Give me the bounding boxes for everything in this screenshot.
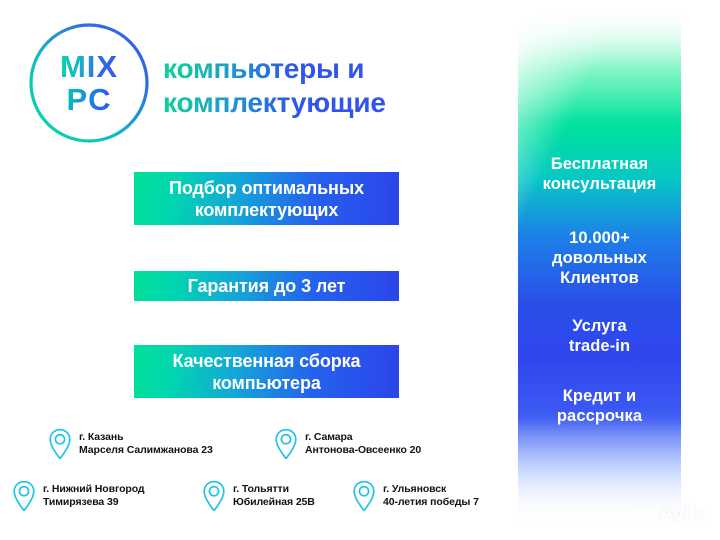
feature-box-assembly: Качественная сборка компьютера <box>134 345 399 398</box>
location-address: 40-летия победы 7 <box>383 496 479 508</box>
brand-logo: MIX PC <box>27 21 151 145</box>
logo-text-mix: MIX <box>60 52 118 81</box>
location-text: г. Нижний НовгородТимирязева 39 <box>43 483 144 510</box>
location-address: Марселя Салимжанова 23 <box>79 444 213 456</box>
promo-panel: Бесплатная консультация 10.000+ довольны… <box>518 0 681 540</box>
location-address: Юбилейная 25В <box>233 496 315 508</box>
location-text: г. СамараАнтонова-Овсеенко 20 <box>305 431 421 458</box>
promo-item-clients: 10.000+ довольных Клиентов <box>518 228 681 288</box>
map-pin-icon <box>12 480 36 512</box>
page-title: компьютеры и комплектующие <box>163 52 513 120</box>
location-text: г. ТольяттиЮбилейная 25В <box>233 483 315 510</box>
promo-item-trade-in: Услуга trade-in <box>518 316 681 356</box>
map-pin-icon <box>274 428 298 460</box>
location-text: г. Ульяновск40-летия победы 7 <box>383 483 479 510</box>
map-pin-icon <box>202 480 226 512</box>
map-pin-icon <box>48 428 72 460</box>
location-city: г. Нижний Новгород <box>43 483 144 495</box>
location-city: г. Ульяновск <box>383 483 446 495</box>
location-item-nizhny-novgorod: г. Нижний НовгородТимирязева 39 <box>12 480 144 512</box>
location-address: Тимирязева 39 <box>43 496 118 508</box>
feature-box-components: Подбор оптимальных комплектующих <box>134 172 399 225</box>
logo-lettering: MIX PC <box>27 21 151 145</box>
location-text: г. КазаньМарселя Салимжанова 23 <box>79 431 213 458</box>
avito-watermark: Avito <box>637 502 708 526</box>
promo-item-credit: Кредит и рассрочка <box>518 386 681 426</box>
location-item-samara: г. СамараАнтонова-Овсеенко 20 <box>274 428 421 460</box>
feature-box-warranty: Гарантия до 3 лет <box>134 271 399 301</box>
promo-item-consultation: Бесплатная консультация <box>518 154 681 194</box>
location-item-tolyatti: г. ТольяттиЮбилейная 25В <box>202 480 315 512</box>
locations-list: г. КазаньМарселя Салимжанова 23 г. Самар… <box>0 424 518 540</box>
location-city: г. Самара <box>305 431 353 443</box>
location-city: г. Казань <box>79 431 123 443</box>
avito-logo-icon <box>637 505 655 523</box>
avito-label: Avito <box>659 502 708 526</box>
map-pin-icon <box>352 480 376 512</box>
location-address: Антонова-Овсеенко 20 <box>305 444 421 456</box>
location-item-kazan: г. КазаньМарселя Салимжанова 23 <box>48 428 213 460</box>
banner-canvas: Бесплатная консультация 10.000+ довольны… <box>0 0 720 540</box>
logo-text-pc: PC <box>66 85 111 114</box>
location-city: г. Тольятти <box>233 483 289 495</box>
location-item-ulyanovsk: г. Ульяновск40-летия победы 7 <box>352 480 479 512</box>
